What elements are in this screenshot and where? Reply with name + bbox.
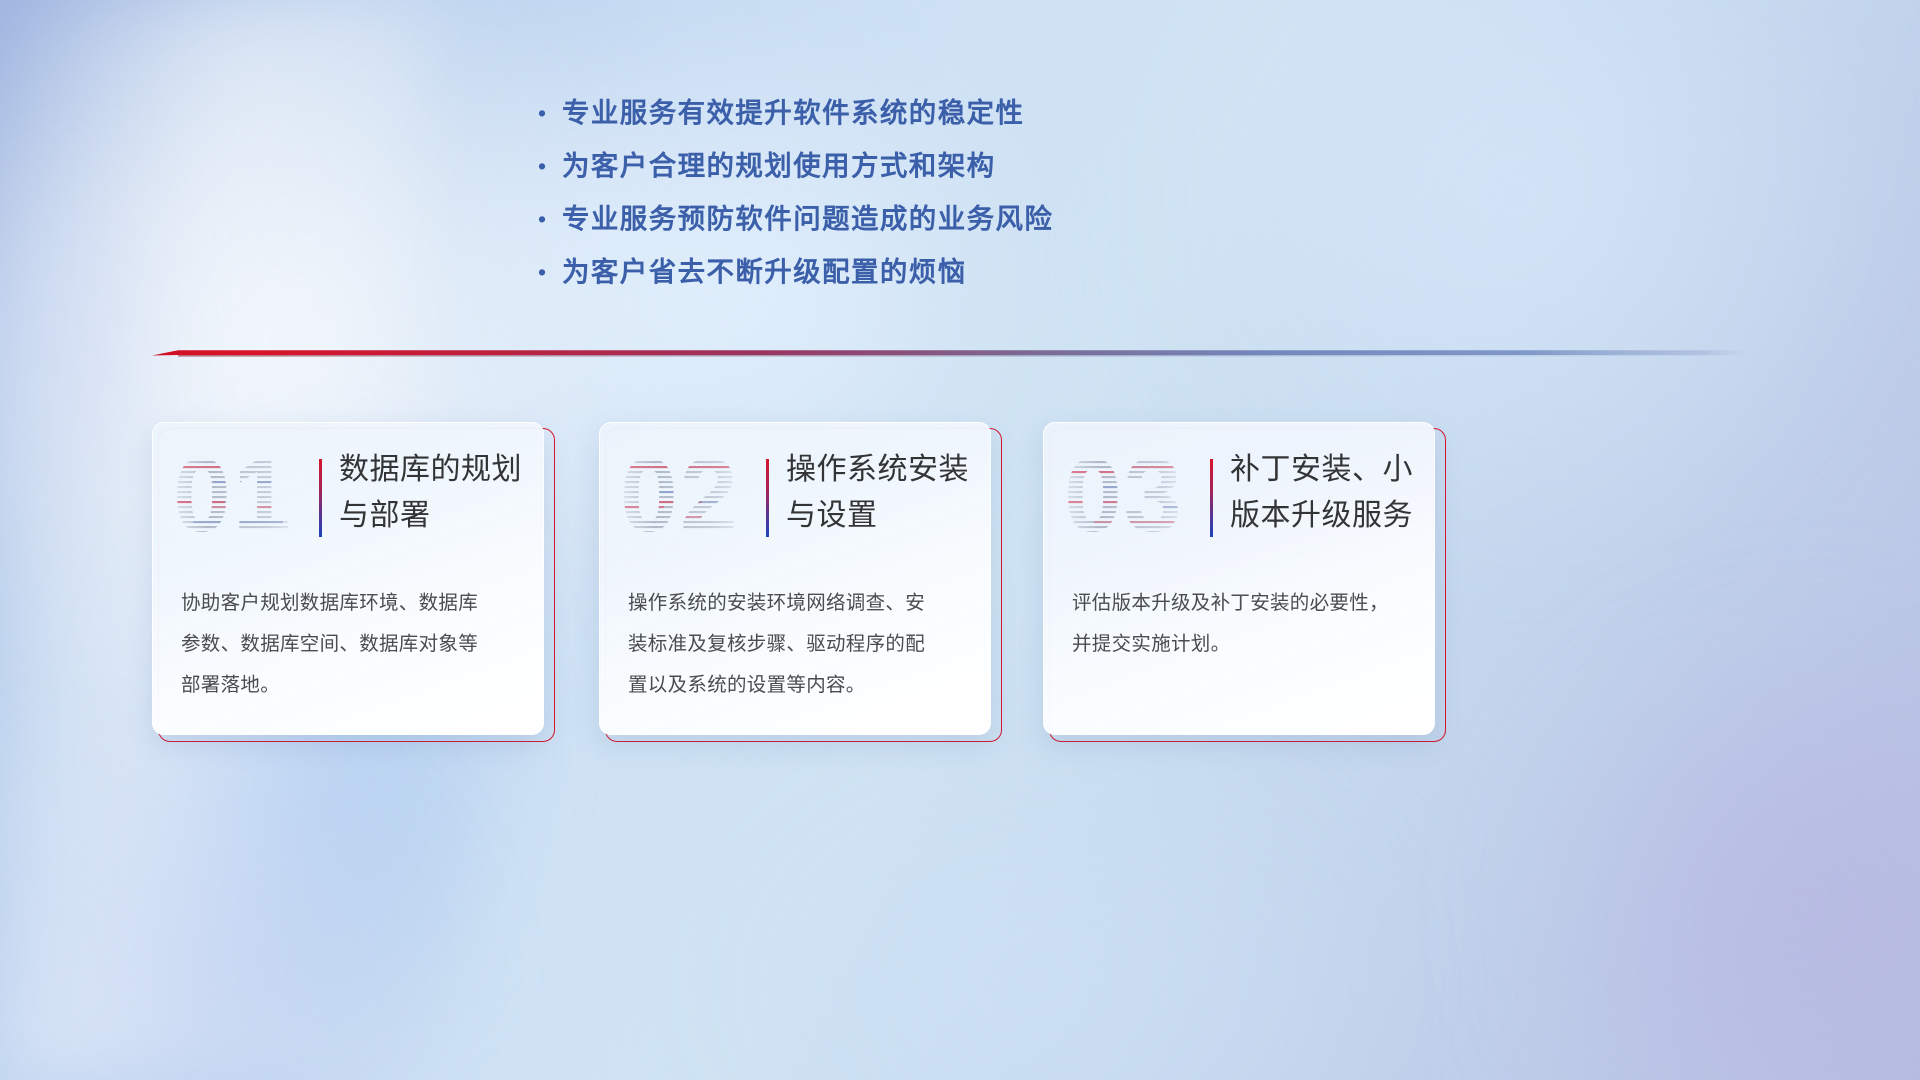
service-card[interactable]: 03 — [1043, 422, 1440, 742]
card-body: 操作系统的安装环境网络调查、安 装标准及复核步骤、驱动程序的配 置以及系统的设置… — [628, 583, 968, 706]
card-title: 补丁安装、小 版本升级服务 — [1230, 447, 1430, 539]
card-number-watermark: 02 — [620, 445, 750, 549]
card-body-line: 操作系统的安装环境网络调查、安 — [628, 583, 968, 624]
card-header: 01 — [153, 445, 543, 557]
card-title: 数据库的规划 与部署 — [339, 447, 539, 539]
striped-number-icon: 01 — [173, 445, 303, 549]
card-body-line: 并提交实施计划。 — [1072, 624, 1412, 665]
card-title: 操作系统安装 与设置 — [786, 447, 986, 539]
card-title-line: 与设置 — [786, 493, 986, 539]
striped-number-icon: 02 — [620, 445, 750, 549]
card-header: 02 — [600, 445, 990, 557]
card-body: 协助客户规划数据库环境、数据库 参数、数据库空间、数据库对象等 部署落地。 — [181, 583, 521, 706]
service-card[interactable]: 01 — [152, 422, 549, 742]
card-surface: 02 — [599, 422, 991, 735]
card-accent-bar — [1210, 459, 1213, 537]
card-body: 评估版本升级及补丁安装的必要性， 并提交实施计划。 — [1072, 583, 1412, 665]
card-body-line: 装标准及复核步骤、驱动程序的配 — [628, 624, 968, 665]
card-number-watermark: 03 — [1064, 445, 1194, 549]
card-body-line: 评估版本升级及补丁安装的必要性， — [1072, 583, 1412, 624]
card-accent-bar — [319, 459, 322, 537]
card-header: 03 — [1044, 445, 1434, 557]
card-title-line: 版本升级服务 — [1230, 493, 1430, 539]
service-card[interactable]: 02 — [599, 422, 996, 742]
card-surface: 03 — [1043, 422, 1435, 735]
card-number-watermark: 01 — [173, 445, 303, 549]
card-body-line: 置以及系统的设置等内容。 — [628, 665, 968, 706]
card-title-line: 操作系统安装 — [786, 447, 986, 493]
card-accent-bar — [766, 459, 769, 537]
card-row: 01 — [0, 0, 1920, 1080]
card-surface: 01 — [152, 422, 544, 735]
card-title-line: 数据库的规划 — [339, 447, 539, 493]
card-body-line: 协助客户规划数据库环境、数据库 — [181, 583, 521, 624]
card-title-line: 与部署 — [339, 493, 539, 539]
card-body-line: 部署落地。 — [181, 665, 521, 706]
card-body-line: 参数、数据库空间、数据库对象等 — [181, 624, 521, 665]
card-title-line: 补丁安装、小 — [1230, 447, 1430, 493]
striped-number-icon: 03 — [1064, 445, 1194, 549]
